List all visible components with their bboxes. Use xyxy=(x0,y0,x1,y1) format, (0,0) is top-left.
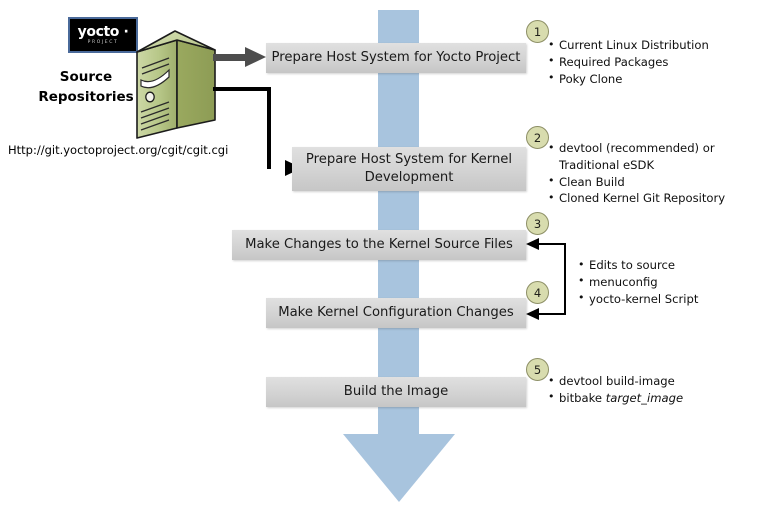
note-item: devtool build-image xyxy=(548,373,683,390)
connector-server-to-step2-h1 xyxy=(213,87,271,91)
note-item: Traditional eSDK xyxy=(548,157,725,174)
step-number-badge-4: 4 xyxy=(526,281,549,304)
feedback-loop-arrowhead-step4 xyxy=(526,308,539,320)
step-3-notes: Edits to sourcemenuconfigyocto-kernel Sc… xyxy=(578,257,698,307)
connector-server-to-step1-shaft xyxy=(213,54,247,61)
process-box-prepare-host-yocto[interactable]: Prepare Host System for Yocto Project xyxy=(266,43,526,73)
note-item: Cloned Kernel Git Repository xyxy=(548,190,725,207)
note-item-emphasis: target_image xyxy=(606,391,683,405)
feedback-loop-top-segment xyxy=(536,243,564,245)
server-tower-icon xyxy=(133,28,219,140)
workflow-diagram-canvas: yocto · PROJECT xyxy=(0,0,769,517)
yocto-logo-subtext: PROJECT xyxy=(88,41,119,46)
note-item: Poky Clone xyxy=(548,71,709,88)
note-item: Clean Build xyxy=(548,174,725,191)
note-item: Required Packages xyxy=(548,54,709,71)
step-number-badge-1: 1 xyxy=(526,20,549,43)
note-item: Current Linux Distribution xyxy=(548,37,709,54)
source-label-line-2: Repositories xyxy=(36,87,136,107)
note-item: bitbake target_image xyxy=(548,390,683,407)
note-item: Edits to source xyxy=(578,257,698,274)
connector-server-to-step1-arrowhead xyxy=(245,47,266,67)
step-number-badge-2: 2 xyxy=(526,126,549,149)
note-item: yocto-kernel Script xyxy=(578,291,698,308)
source-repository-url: Http://git.yoctoproject.org/cgit/cgit.cg… xyxy=(8,143,228,157)
step-number-badge-5: 5 xyxy=(526,358,549,381)
main-flow-arrow-head xyxy=(343,434,455,502)
process-box-prepare-host-kernel[interactable]: Prepare Host System for Kernel Developme… xyxy=(292,147,526,191)
feedback-loop-arrowhead-step3 xyxy=(526,238,539,250)
yocto-logo-wordmark: yocto · xyxy=(78,25,129,39)
process-box-make-config-changes[interactable]: Make Kernel Configuration Changes xyxy=(266,298,526,328)
process-box-make-source-changes[interactable]: Make Changes to the Kernel Source Files xyxy=(232,230,526,260)
step-1-notes: Current Linux DistributionRequired Packa… xyxy=(548,37,709,87)
source-label-line-1: Source xyxy=(36,67,136,87)
process-box-build-image[interactable]: Build the Image xyxy=(266,377,526,407)
step-5-notes: devtool build-imagebitbake target_image xyxy=(548,373,683,407)
source-repositories-label: Source Repositories xyxy=(36,67,136,108)
step-number-badge-3: 3 xyxy=(526,212,549,235)
step-2-notes: devtool (recommended) orTraditional eSDK… xyxy=(548,140,725,207)
connector-server-to-step2-vertical xyxy=(267,87,271,169)
yocto-project-logo: yocto · PROJECT xyxy=(68,17,138,53)
feedback-loop-bottom-segment xyxy=(536,313,564,315)
main-flow-arrow-shaft xyxy=(378,10,419,435)
feedback-loop-vertical xyxy=(564,243,566,315)
note-item: devtool (recommended) or xyxy=(548,140,725,157)
note-item: menuconfig xyxy=(578,274,698,291)
